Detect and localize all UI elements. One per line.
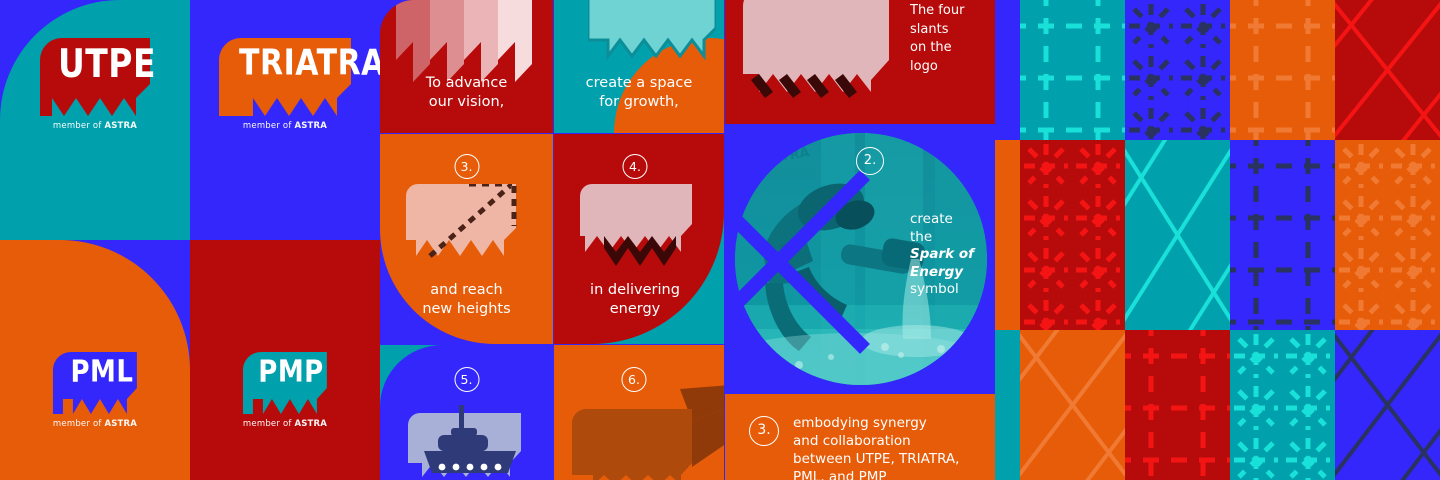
callout-line: logo: [910, 58, 992, 77]
story-cell-machinery: 5.: [380, 345, 553, 480]
triatra-wordmark: TRIATRA: [219, 38, 351, 89]
story-cell-delivering-energy: 4. in delivering energy: [554, 134, 724, 344]
member-prefix: member of: [243, 121, 295, 131]
pattern-cell: [1230, 140, 1335, 330]
pattern-cell: [1335, 0, 1440, 140]
pattern-cell: [1020, 140, 1125, 330]
callout-emphasis-line: Spark of: [910, 246, 995, 264]
logo-lockup-triatra: TRIATRA member of ASTRA: [219, 38, 351, 131]
callout-spark-of-energy: TRIATRA 2. create the Spark of Energy sy…: [725, 125, 995, 393]
callout-line: The four: [910, 2, 992, 21]
callout-four-slants: The four slants on the logo: [725, 0, 995, 124]
pattern-motif-dashed-grid: [1020, 0, 1125, 140]
brand-logo-grid: UTPE member of ASTRA TRIATRA member of A…: [0, 0, 380, 480]
triatra-member-line: member of ASTRA: [219, 121, 351, 131]
member-prefix: member of: [53, 419, 105, 429]
callout-synergy: 3. embodying synergy and collaboration b…: [725, 394, 995, 480]
pattern-motif-solid-x: [1125, 140, 1230, 330]
synergy-text: embodying synergy and collaboration betw…: [793, 414, 993, 480]
pattern-cell: [1125, 330, 1230, 480]
callout-line: symbol: [910, 281, 995, 299]
pattern-edge-strip: [995, 0, 1020, 140]
callout-line: PML, and PMP: [793, 468, 993, 480]
story-line: and reach new heights: [386, 281, 547, 319]
brand-cell-utpe: UTPE member of ASTRA: [0, 0, 190, 240]
pattern-edge-strip: [995, 140, 1020, 330]
brand-cell-triatra: TRIATRA member of ASTRA: [190, 0, 380, 240]
story-line: create a space for growth,: [560, 74, 718, 112]
utpe-mark-icon: UTPE: [40, 38, 150, 116]
arrow-mark-icon: [406, 184, 528, 262]
callout-line: on the: [910, 39, 992, 58]
logo-lockup-pmp: PMP member of ASTRA: [243, 352, 327, 429]
triatra-mark-icon: TRIATRA: [219, 38, 351, 116]
pattern-motif-dashed-asterisk: [1020, 140, 1125, 330]
pattern-cell: [1020, 330, 1125, 480]
member-prefix: member of: [53, 121, 105, 131]
callout-line: between UTPE, TRIATRA,: [793, 450, 993, 468]
pattern-cell: [1335, 140, 1440, 330]
story-line: To advance our vision,: [386, 74, 547, 112]
pmp-wordmark: PMP: [243, 352, 327, 393]
pml-member-line: member of ASTRA: [53, 419, 137, 429]
pattern-motif-solid-x: [1335, 330, 1440, 480]
pattern-cell: [1020, 0, 1125, 140]
story-line: in delivering energy: [554, 281, 716, 319]
pattern-motif-dashed-asterisk: [1230, 330, 1335, 480]
member-brand: ASTRA: [294, 121, 327, 131]
callout-line: slants: [910, 21, 992, 40]
utpe-member-line: member of ASTRA: [40, 121, 150, 131]
callout-line: and collaboration: [793, 432, 993, 450]
pattern-swatch-grid: [995, 0, 1440, 480]
logo-lockup-utpe: UTPE member of ASTRA: [40, 38, 150, 131]
member-prefix: member of: [243, 419, 295, 429]
story-cell-text: in delivering energy: [554, 281, 716, 319]
member-brand: ASTRA: [294, 419, 327, 429]
utpe-wordmark: UTPE: [40, 38, 150, 90]
story-number-badge: 4.: [623, 154, 648, 179]
spark-number-badge: 2.: [856, 147, 884, 175]
story-number-badge: 3.: [454, 154, 479, 179]
pattern-motif-dashed-grid: [1230, 140, 1335, 330]
pml-wordmark: PML: [53, 352, 137, 393]
zigzag-mark-icon: [580, 184, 704, 270]
logo-lockup-pml: PML member of ASTRA: [53, 352, 137, 429]
spark-of-energy-text: create the Spark of Energy symbol: [910, 211, 995, 299]
member-brand: ASTRA: [104, 419, 137, 429]
story-cell-extruded: 6.: [554, 345, 724, 480]
machine-mark-icon: [408, 403, 526, 480]
story-cell-space-growth: create a space for growth,: [554, 0, 724, 133]
member-brand: ASTRA: [104, 121, 137, 131]
pml-mark-icon: PML: [53, 352, 137, 414]
story-cell-reach-heights: 3. and reach new heights: [380, 134, 553, 344]
pattern-cell: [1125, 0, 1230, 140]
callout-line: embodying synergy: [793, 414, 993, 432]
callout-emphasis-line: Energy: [910, 264, 995, 282]
pattern-motif-dashed-grid: [1125, 330, 1230, 480]
brand-guideline-board: UTPE member of ASTRA TRIATRA member of A…: [0, 0, 1440, 480]
extruded-mark-icon: [572, 385, 724, 480]
four-slants-icon: [743, 0, 898, 106]
story-cell-text: and reach new heights: [386, 281, 547, 319]
pattern-cell: [1125, 140, 1230, 330]
pattern-motif-dashed-grid: [1230, 0, 1335, 140]
story-cell-text: create a space for growth,: [560, 74, 718, 112]
pmp-mark-icon: PMP: [243, 352, 327, 414]
four-slants-text: The four slants on the logo: [910, 2, 992, 76]
pattern-cell: [1230, 330, 1335, 480]
story-number-badge: 5.: [454, 367, 479, 392]
pattern-cell: [1230, 0, 1335, 140]
brand-cell-pmp: PMP member of ASTRA: [190, 240, 380, 480]
callout-line: create: [910, 211, 995, 229]
story-cell-advance-vision: To advance our vision,: [380, 0, 553, 133]
outline-mark-icon: [588, 0, 716, 66]
pattern-edge-strip: [995, 330, 1020, 480]
pattern-motif-solid-x: [1335, 0, 1440, 140]
pattern-motif-dashed-asterisk: [1125, 0, 1230, 140]
pattern-motif-solid-x: [1020, 330, 1125, 480]
story-cell-text: To advance our vision,: [386, 74, 547, 112]
brand-cell-pml: PML member of ASTRA: [0, 240, 190, 480]
callout-line: the: [910, 229, 995, 247]
synergy-number-badge: 3.: [749, 416, 779, 446]
pmp-member-line: member of ASTRA: [243, 419, 327, 429]
pattern-cell: [1335, 330, 1440, 480]
pattern-motif-dashed-asterisk: [1335, 140, 1440, 330]
